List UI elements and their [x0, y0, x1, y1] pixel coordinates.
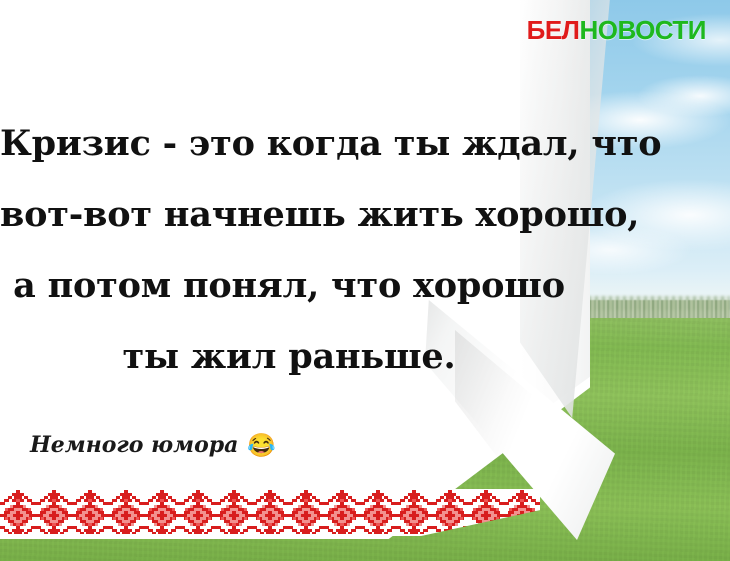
meme-card-canvas: БЕЛНОВОСТИ Кризис - это когда ты ждал, ч…	[0, 0, 730, 561]
caption-block: Немного юмора 😂	[30, 432, 276, 458]
caption-text: Немного юмора	[30, 432, 238, 458]
site-logo[interactable]: БЕЛНОВОСТИ	[527, 17, 706, 43]
quote-line-3: а потом понял, что хорошо	[0, 250, 578, 321]
logo-text-novosti: НОВОСТИ	[579, 15, 706, 45]
logo-text-bel: БЕЛ	[527, 15, 580, 45]
quote-line-1: Кризис - это когда ты ждал, что	[0, 108, 578, 179]
face-with-tears-of-joy-icon: 😂	[247, 434, 276, 457]
quote-line-4: ты жил раньше.	[0, 321, 578, 392]
quote-line-2: вот-вот начнешь жить хорошо,	[0, 179, 578, 250]
quote-block: Кризис - это когда ты ждал, что вот-вот …	[0, 108, 578, 392]
